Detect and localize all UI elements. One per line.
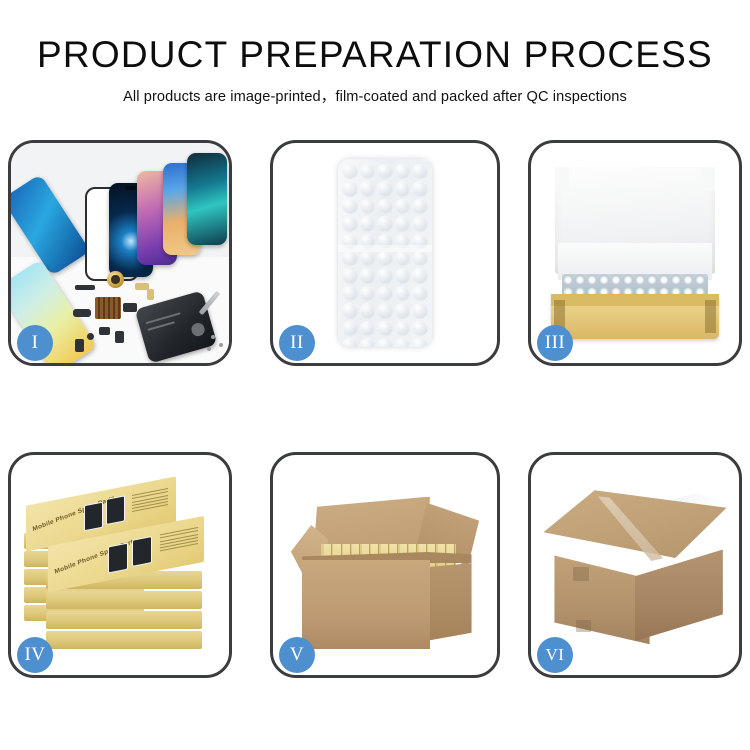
- carton-tab-upper-icon: [573, 567, 589, 581]
- battery-part-icon: [115, 331, 124, 343]
- box-spec-lines: [160, 527, 198, 554]
- open-inner-box-icon: [548, 167, 723, 339]
- step-numeral-3: III: [545, 332, 565, 354]
- bracket-part-icon: [73, 309, 91, 317]
- step-numeral-1: I: [32, 332, 39, 354]
- product-preparation-infographic: PRODUCT PREPARATION PROCESS All products…: [0, 0, 750, 750]
- stacked-box-side: [46, 611, 202, 629]
- speaker-part-icon: [99, 327, 110, 335]
- plastic-film-overlay: [338, 159, 432, 347]
- step-panel-5: V: [270, 452, 500, 678]
- flex-strip-part-icon: [75, 285, 95, 290]
- step-numeral-4: IV: [24, 644, 45, 666]
- connector-part-icon: [123, 303, 137, 312]
- open-carton-icon: [291, 490, 479, 648]
- step-badge-1: I: [17, 325, 53, 361]
- housing-detail-2-icon: [148, 322, 175, 331]
- step-badge-5: V: [279, 637, 315, 673]
- flex-cable-2-part-icon: [147, 289, 154, 300]
- step-panel-3: III: [528, 140, 742, 366]
- sim-tray-part-icon: [75, 339, 84, 352]
- button-part-icon: [87, 333, 94, 340]
- step-panel-1: I: [8, 140, 232, 366]
- step-badge-3: III: [537, 325, 573, 361]
- stacked-box-side: [46, 631, 202, 649]
- page-subtitle: All products are image-printed，film-coat…: [0, 85, 750, 106]
- step-badge-2: II: [279, 325, 315, 361]
- box-stack-icon: Mobile Phone Spare Parts Mobile Phone Sp…: [24, 475, 216, 651]
- step-numeral-6: VI: [546, 645, 565, 665]
- logic-board-part-icon: [95, 297, 121, 319]
- bubble-wrapped-product-icon: [562, 274, 709, 296]
- lid-flap-right-icon: [701, 167, 715, 190]
- step-panel-4: Mobile Phone Spare Parts Mobile Phone Sp…: [8, 452, 232, 678]
- housing-camera-icon: [190, 322, 205, 337]
- lid-flap-left-icon: [555, 167, 569, 190]
- camera-ring-part-icon: [107, 271, 124, 288]
- sealed-carton-icon: [543, 490, 726, 644]
- box-screen-image: [132, 536, 152, 567]
- carton-front-panel-icon: [302, 560, 430, 649]
- stacked-box-side: [46, 591, 202, 609]
- notch-icon: [125, 186, 136, 190]
- step-badge-4: IV: [17, 637, 53, 673]
- page-title: PRODUCT PREPARATION PROCESS: [0, 34, 750, 76]
- step-panel-6: VI: [528, 452, 742, 678]
- screw-2-icon: [219, 343, 223, 347]
- box-spec-lines: [132, 488, 168, 515]
- carton-right-face-icon: [635, 546, 723, 641]
- step-badge-6: VI: [537, 637, 573, 673]
- tray-edge: [551, 294, 719, 306]
- phone-display-teal-icon: [187, 153, 227, 245]
- box-label-upper: Mobile Phone Spare Parts: [32, 494, 115, 533]
- box-screen-image: [84, 501, 103, 531]
- screw-icon: [211, 335, 215, 339]
- carton-tab-lower-icon: [576, 620, 591, 632]
- step-numeral-5: V: [290, 644, 304, 666]
- step-numeral-2: II: [290, 332, 304, 354]
- step-panel-2: II: [270, 140, 500, 366]
- bubble-wrap-package-icon: [338, 159, 432, 347]
- housing-detail-icon: [145, 312, 181, 324]
- kraft-box-tray-icon: [551, 294, 719, 339]
- box-screen-image: [108, 542, 128, 573]
- box-screen-image: [106, 495, 125, 525]
- tray-corner-right: [705, 300, 717, 334]
- screw-3-icon: [207, 347, 211, 351]
